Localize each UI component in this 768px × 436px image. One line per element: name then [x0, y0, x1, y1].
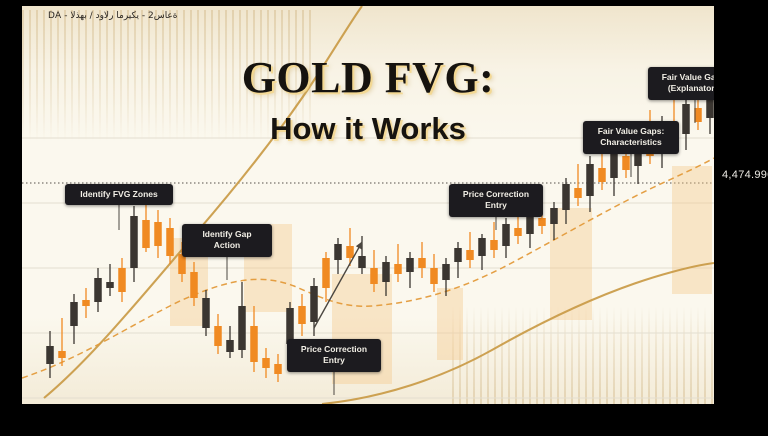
- callout-fair-value-gaps-explanatory[interactable]: Fair Value Gaps: (Explanatory): [648, 67, 714, 100]
- callout-price-correction-entry-1[interactable]: Price Correction Entry: [287, 339, 381, 372]
- chart-panel[interactable]: ةعاس2 - يكيرما رلاود / بهذلا - DA GOLD F…: [22, 6, 714, 404]
- price-axis-label: 4,474.990: [722, 169, 768, 181]
- callout-fair-value-gaps-characteristics[interactable]: Fair Value Gaps: Characteristics: [583, 121, 679, 154]
- callout-identify-fvg-zones[interactable]: Identify FVG Zones: [65, 184, 173, 205]
- screenshot-frame: ةعاس2 - يكيرما رلاود / بهذلا - DA GOLD F…: [0, 0, 768, 436]
- callout-identify-gap-action[interactable]: Identify Gap Action: [182, 224, 272, 257]
- callout-price-correction-entry-2[interactable]: Price Correction Entry: [449, 184, 543, 217]
- chart-watermark-label: ةعاس2 - يكيرما رلاود / بهذلا - DA: [48, 11, 178, 21]
